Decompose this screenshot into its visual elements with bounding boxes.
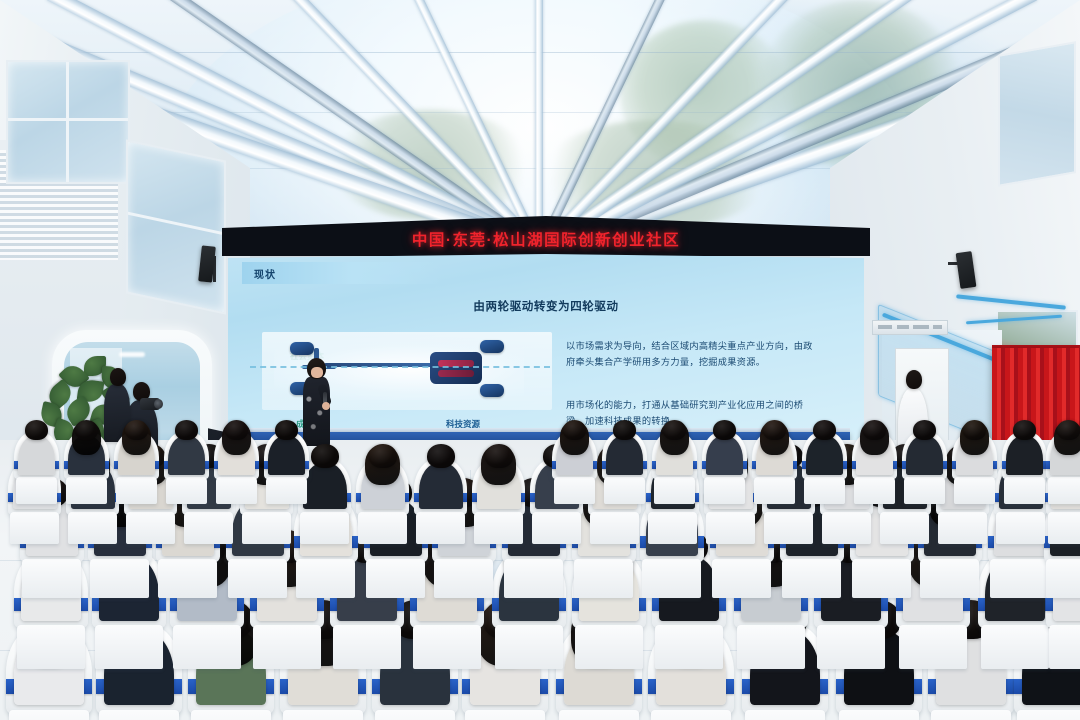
audience-member-head (563, 420, 586, 440)
chair-skirt (126, 512, 176, 544)
motor-assembly (430, 352, 482, 384)
chair-skirt (266, 477, 308, 504)
chair-skirt (358, 512, 408, 544)
chair-skirt (754, 477, 796, 504)
chair-skirt (242, 512, 292, 544)
chair-skirt (604, 477, 646, 504)
wheel-rear-left (480, 340, 504, 353)
audience-member-head (713, 420, 736, 440)
audience-seat (952, 420, 997, 499)
audience-member-head (225, 420, 248, 440)
chair-skirt (931, 710, 1011, 720)
audience-member-head (369, 444, 397, 468)
chair-skirt (839, 710, 919, 720)
right-window-upper (998, 41, 1076, 187)
chair-skirt (184, 512, 234, 544)
audience-member-head (485, 444, 513, 468)
chair-skirt (745, 710, 825, 720)
audience-seat (164, 420, 209, 499)
audience-member-head (763, 420, 786, 440)
audience-member-head (75, 420, 98, 440)
audience-member-torso (303, 463, 347, 510)
audience-seat (652, 420, 697, 499)
chair-skirt (495, 625, 564, 670)
audience-member-torso (706, 436, 743, 475)
audience-seat (414, 444, 467, 538)
audience-member-head (1013, 420, 1036, 440)
chair-skirt (465, 710, 545, 720)
chair-skirt (1049, 625, 1080, 670)
chair-skirt (574, 559, 633, 597)
audience-seat (802, 420, 847, 499)
chair-skirt (1004, 477, 1046, 504)
chair-skirt (99, 710, 179, 720)
chair-skirt (9, 710, 89, 720)
chair-skirt (296, 559, 355, 597)
chair-skirt (216, 477, 258, 504)
chair-skirt (504, 559, 563, 597)
slide-section-tab: 现状 (242, 262, 442, 284)
audience-member-head (311, 444, 339, 468)
audience-member-head (427, 444, 455, 468)
chair-skirt (655, 625, 724, 670)
left-window-upper (6, 60, 130, 184)
chair-skirt (283, 710, 363, 720)
chair-skirt (904, 477, 946, 504)
chair-skirt (654, 477, 696, 504)
audience-member-head (863, 420, 886, 440)
audience-member-head (175, 420, 198, 440)
chair-skirt (1046, 559, 1080, 597)
audience-seat (602, 420, 647, 499)
chair-skirt (375, 710, 455, 720)
chair-skirt (158, 559, 217, 597)
chair-skirt (90, 559, 149, 597)
chair-skirt (22, 559, 81, 597)
chair-skirt (899, 625, 968, 670)
audience-member-head (1057, 420, 1080, 440)
audience-seat (1002, 420, 1047, 499)
chair-skirt (166, 477, 208, 504)
chair-skirt (68, 512, 118, 544)
audience-seat (356, 444, 409, 538)
audience-member-torso (906, 436, 943, 475)
chair-skirt (817, 625, 886, 670)
chair-skirt (981, 625, 1050, 670)
chair-skirt (822, 512, 872, 544)
wall-sign (872, 320, 948, 335)
chair-skirt (1048, 477, 1080, 504)
chair-skirt (804, 477, 846, 504)
chair-skirt (852, 559, 911, 597)
audience-member-head (125, 420, 148, 440)
chair-skirt (17, 625, 86, 670)
chair-skirt (228, 559, 287, 597)
audience-member-head (663, 420, 686, 440)
chair-skirt (413, 625, 482, 670)
audience-member-torso (606, 436, 643, 475)
audience-seat (472, 444, 525, 538)
chair-skirt (300, 512, 350, 544)
chair-skirt (366, 559, 425, 597)
chair-skirt (10, 512, 60, 544)
chair-skirt (854, 477, 896, 504)
audience-member-torso (168, 436, 205, 475)
audience-seat (14, 420, 59, 499)
audience-seat (1046, 420, 1080, 499)
chair-skirt (651, 710, 731, 720)
chair-skirt (954, 477, 996, 504)
slide-paragraph-1: 以市场需求为导向，结合区域内高精尖重点产业方向，由政府牵头集合产学研用多方力量，… (566, 338, 816, 370)
audience-member-head (813, 420, 836, 440)
audience-member-head (25, 420, 48, 440)
audience-member-head (613, 420, 636, 440)
left-standing-person-head (110, 368, 126, 386)
chair-skirt (706, 512, 756, 544)
presenter-hand (322, 402, 330, 410)
screen-header-banner: 中国·东莞·松山湖国际创新创业社区 (222, 216, 870, 256)
audience-member-torso (806, 436, 843, 475)
chair-skirt (16, 477, 58, 504)
audience-member-torso (419, 463, 463, 510)
slide-section-label: 现状 (254, 266, 276, 281)
audience-seat (852, 420, 897, 499)
chair-skirt (416, 512, 466, 544)
audience-member-torso (268, 436, 305, 475)
chair-skirt (1017, 710, 1080, 720)
chair-skirt (990, 559, 1049, 597)
chair-skirt (333, 625, 402, 670)
chair-skirt (712, 559, 771, 597)
wheel-front-left (290, 342, 314, 355)
chair-skirt (880, 512, 930, 544)
chair-skirt (996, 512, 1046, 544)
audience-seat (114, 420, 159, 499)
audience-seat (64, 420, 109, 499)
chair-skirt (554, 477, 596, 504)
audience-seat (702, 420, 747, 499)
divider-dashed-line (250, 366, 550, 368)
chair-skirt (648, 512, 698, 544)
chair-skirt (559, 710, 639, 720)
audience-seat (752, 420, 797, 499)
chair-skirt (938, 512, 988, 544)
chair-skirt (704, 477, 746, 504)
presenter-face (311, 367, 323, 378)
staff-head (906, 370, 922, 389)
chair-skirt (474, 512, 524, 544)
conference-hall-photo: 中国·东莞·松山湖国际创新创业社区 现状 由两轮驱动转变为四轮驱动 社会资本 市… (0, 0, 1080, 720)
chair-skirt (1048, 512, 1080, 544)
chair-skirt (191, 710, 271, 720)
chair-skirt (642, 559, 701, 597)
audience-seat (214, 420, 259, 499)
chair-skirt (737, 625, 806, 670)
audience-seat (552, 420, 597, 499)
chair-skirt (434, 559, 493, 597)
audience-member-head (275, 420, 298, 440)
wheel-rear-right (480, 384, 504, 397)
chair-skirt (590, 512, 640, 544)
chair-skirt (920, 559, 979, 597)
camera-lens (154, 399, 163, 409)
left-window-lower (126, 139, 226, 314)
audience-member-head (913, 420, 936, 440)
audience-member-head (963, 420, 986, 440)
chair-skirt (532, 512, 582, 544)
banner-title: 中国·东莞·松山湖国际创新创业社区 (412, 228, 680, 256)
chair-skirt (66, 477, 108, 504)
audience-member-torso (1006, 436, 1043, 475)
chair-skirt (764, 512, 814, 544)
slide-title: 由两轮驱动转变为四轮驱动 (228, 298, 864, 314)
chair-skirt (782, 559, 841, 597)
chair-skirt (173, 625, 242, 670)
chair-skirt (116, 477, 158, 504)
audience-seat (264, 420, 309, 499)
audience-member-torso (18, 436, 55, 475)
ceiling-beam (535, 0, 543, 250)
audience-seat (902, 420, 947, 499)
chair-skirt (575, 625, 644, 670)
chair-skirt (95, 625, 164, 670)
chair-skirt (253, 625, 322, 670)
